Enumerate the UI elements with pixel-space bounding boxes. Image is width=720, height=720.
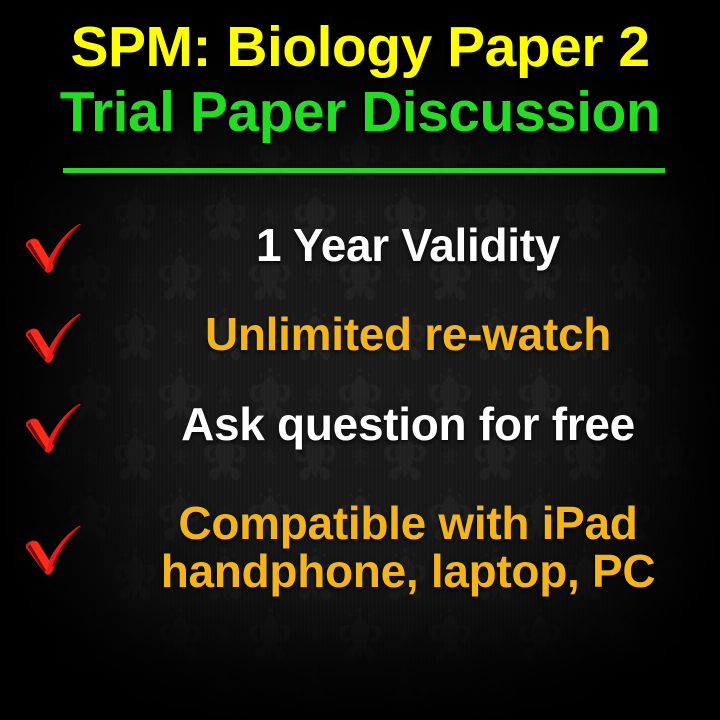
check-icon [18,300,84,374]
list-item-label-line-1: Compatible with iPad [96,500,720,548]
list-item-label-line-2: handphone, laptop, PC [96,548,720,596]
title-divider [63,168,665,173]
page-title-primary: SPM: Biology Paper 2 [0,19,720,76]
list-item-label: Unlimited re-watch [96,311,720,359]
promo-poster: SPM: Biology Paper 2 Trial Paper Discuss… [0,0,720,720]
poster-content: SPM: Biology Paper 2 Trial Paper Discuss… [0,0,720,720]
page-title-secondary: Trial Paper Discussion [0,84,720,141]
check-icon [18,512,84,586]
list-item-label-block: Compatible with iPad handphone, laptop, … [96,500,720,596]
list-item-label: 1 Year Validity [96,222,720,270]
check-icon [18,210,84,284]
check-icon [18,390,84,464]
list-item-label: Ask question for free [96,401,720,449]
